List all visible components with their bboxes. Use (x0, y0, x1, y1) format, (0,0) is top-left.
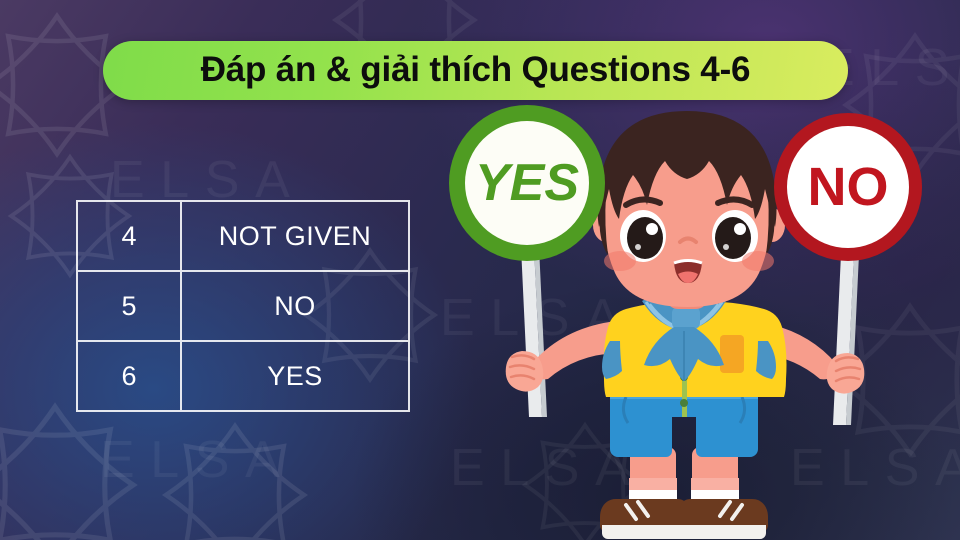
yes-sign-label: YES (475, 154, 579, 212)
boy-left-hand (506, 351, 544, 392)
table-row: 6 YES (78, 342, 408, 410)
boy-right-hand (827, 353, 865, 394)
answer-cell: NOT GIVEN (182, 202, 408, 270)
question-number-cell: 4 (78, 202, 182, 270)
page-title: Đáp án & giải thích Questions 4-6 (201, 52, 751, 90)
slide-canvas: ELSA ELSA ELSA ELSA ELSA ELSA Đáp án & g… (0, 0, 960, 540)
boy-shoes (600, 499, 768, 539)
table-row: 4 NOT GIVEN (78, 202, 408, 272)
no-sign: NO (774, 113, 922, 261)
boy-head (598, 111, 777, 307)
yes-sign: YES (449, 105, 605, 261)
answer-cell: NO (182, 272, 408, 340)
question-number-cell: 5 (78, 272, 182, 340)
brand-watermark: ELSA (100, 430, 295, 490)
answer-cell: YES (182, 342, 408, 410)
question-number-cell: 6 (78, 342, 182, 410)
illustration-boy-with-signs: YES NO (430, 95, 960, 540)
answer-table: 4 NOT GIVEN 5 NO 6 YES (76, 200, 410, 412)
title-banner: Đáp án & giải thích Questions 4-6 (103, 41, 848, 100)
no-sign-label: NO (808, 157, 889, 217)
table-row: 5 NO (78, 272, 408, 342)
